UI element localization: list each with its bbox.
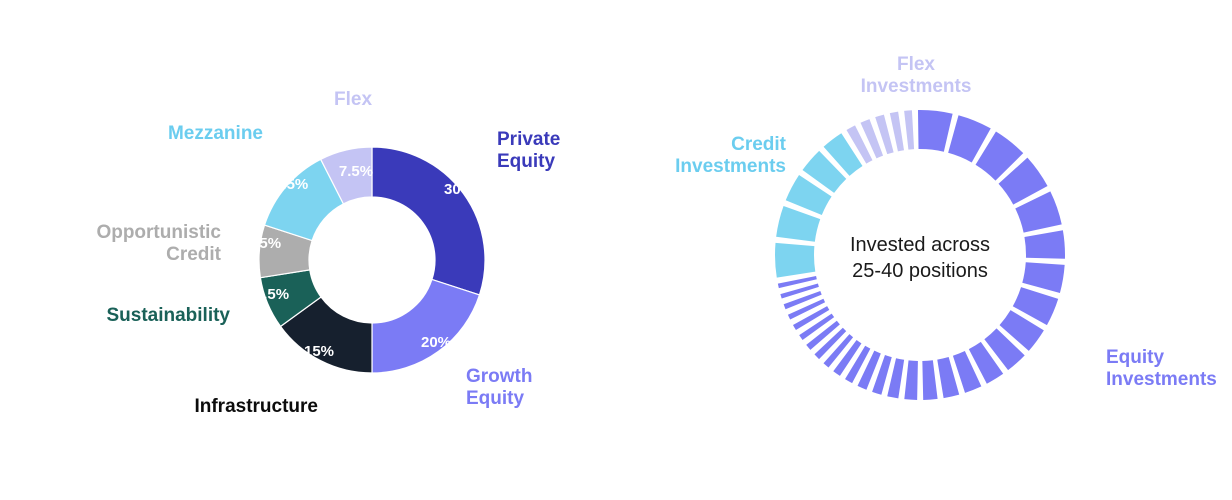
slice-value-label: 7.5% xyxy=(339,163,373,180)
slide-canvas: 30%20%15%7.5%7.5%12.5%7.5%PrivateEquityG… xyxy=(0,0,1232,500)
category-label: Mezzanine xyxy=(168,123,263,144)
positions-donut-chart: Invested across25-40 positionsEquityInve… xyxy=(616,0,1232,500)
group-label: CreditInvestments xyxy=(675,134,787,177)
group-label: EquityInvestments xyxy=(1106,347,1217,390)
position-segment[interactable] xyxy=(904,110,914,149)
position-segment[interactable] xyxy=(918,110,953,152)
category-label: PrivateEquity xyxy=(497,129,560,172)
slice-value-label: 15% xyxy=(304,343,334,360)
category-label: GrowthEquity xyxy=(466,366,533,409)
position-segment[interactable] xyxy=(904,360,918,400)
position-segment[interactable] xyxy=(799,314,834,340)
category-label: OpportunisticCredit xyxy=(96,222,221,265)
position-segment[interactable] xyxy=(922,360,937,400)
group-label: FlexInvestments xyxy=(861,54,972,97)
category-label: Infrastructure xyxy=(194,396,318,417)
slice-value-label: 20% xyxy=(421,334,451,351)
allocation-chart-panel: 30%20%15%7.5%7.5%12.5%7.5%PrivateEquityG… xyxy=(0,0,616,500)
slice-wedge[interactable] xyxy=(372,147,485,295)
position-segment[interactable] xyxy=(890,112,904,152)
position-segment[interactable] xyxy=(1022,262,1064,293)
slice-value-label: 7.5% xyxy=(255,286,289,303)
category-label: Flex xyxy=(334,89,372,110)
position-segment[interactable] xyxy=(775,243,815,278)
slice-wedge[interactable] xyxy=(372,279,479,373)
donut-slice[interactable] xyxy=(372,147,485,295)
slice-value-label: 7.5% xyxy=(247,235,281,252)
donut-center-text: Invested across25-40 positions xyxy=(850,234,990,282)
category-label: Sustainability xyxy=(106,305,230,326)
slice-value-label: 12.5% xyxy=(266,176,309,193)
positions-chart-panel: Invested across25-40 positionsEquityInve… xyxy=(616,0,1232,500)
donut-slice[interactable] xyxy=(372,279,479,373)
allocation-donut-chart: 30%20%15%7.5%7.5%12.5%7.5%PrivateEquityG… xyxy=(0,0,616,500)
position-segment[interactable] xyxy=(1024,230,1065,258)
slice-value-label: 30% xyxy=(444,181,474,198)
position-segment[interactable] xyxy=(793,306,829,330)
